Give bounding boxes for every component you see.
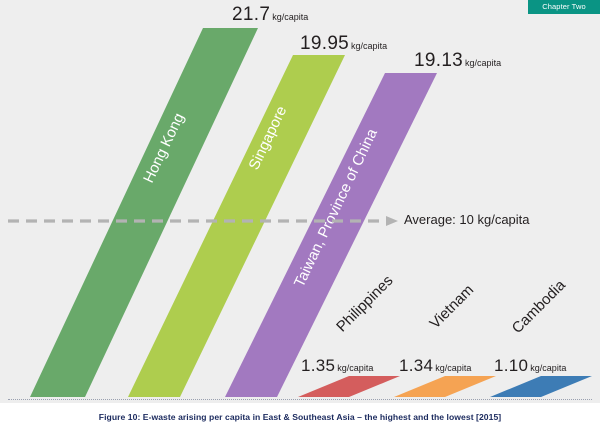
bar-label-cambodia: Cambodia [509, 276, 570, 337]
value-cambodia: 1.10kg/capita [494, 356, 566, 376]
value-singapore: 19.95kg/capita [300, 33, 387, 55]
figure-container: Hong Kong Singapore Taiwan, Province of … [0, 0, 600, 431]
value-taiwan: 19.13kg/capita [414, 50, 501, 72]
value-unit-philippines: kg/capita [337, 363, 373, 373]
value-number-vietnam: 1.34 [399, 356, 433, 375]
figure-caption-bar: Figure 10: E-waste arising per capita in… [0, 403, 600, 431]
chart-plot-area: Hong Kong Singapore Taiwan, Province of … [0, 0, 600, 403]
value-vietnam: 1.34kg/capita [399, 356, 471, 376]
average-label: Average: 10 kg/capita [404, 212, 530, 227]
value-unit-hong-kong: kg/capita [272, 12, 308, 22]
bar-vietnam[interactable]: Vietnam [394, 281, 496, 397]
bar-label-philippines: Philippines [333, 272, 396, 335]
value-hong-kong: 21.7kg/capita [232, 4, 308, 26]
bar-cambodia[interactable]: Cambodia [490, 276, 592, 397]
bar-label-vietnam: Vietnam [426, 281, 477, 332]
value-number-singapore: 19.95 [300, 33, 349, 54]
chart-baseline [8, 399, 592, 402]
value-unit-taiwan: kg/capita [465, 58, 501, 68]
value-number-taiwan: 19.13 [414, 50, 463, 71]
value-number-philippines: 1.35 [301, 356, 335, 375]
figure-caption-text: Figure 10: E-waste arising per capita in… [99, 412, 501, 422]
value-philippines: 1.35kg/capita [301, 356, 373, 376]
value-number-hong-kong: 21.7 [232, 4, 270, 25]
bar-shape-philippines [298, 376, 400, 397]
chapter-badge: Chapter Two [528, 0, 600, 14]
value-unit-vietnam: kg/capita [435, 363, 471, 373]
bar-group: Hong Kong Singapore Taiwan, Province of … [0, 0, 600, 403]
value-unit-singapore: kg/capita [351, 41, 387, 51]
bar-shape-cambodia [490, 376, 592, 397]
average-arrowhead [386, 216, 398, 226]
average-reference-line [8, 215, 400, 227]
value-number-cambodia: 1.10 [494, 356, 528, 375]
bar-shape-vietnam [394, 376, 496, 397]
value-unit-cambodia: kg/capita [530, 363, 566, 373]
